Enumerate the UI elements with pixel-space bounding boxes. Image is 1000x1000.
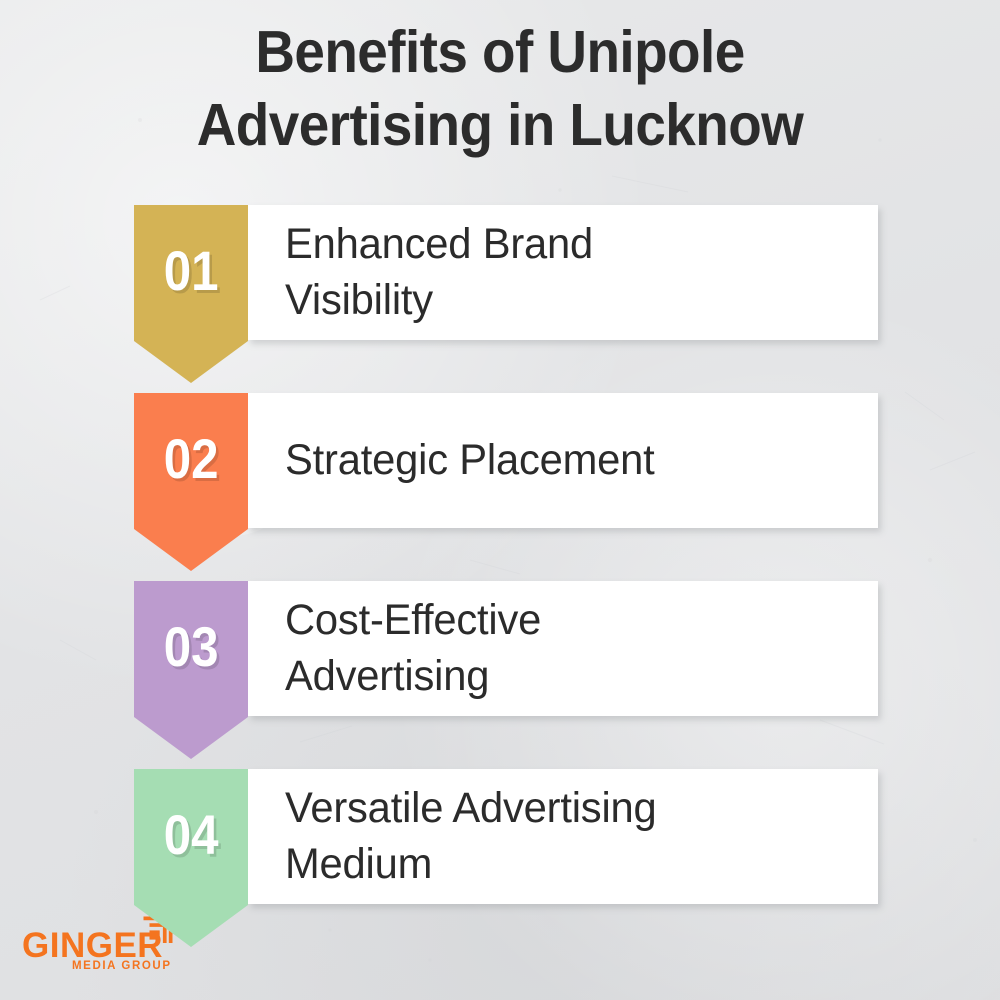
benefit-number: 03: [164, 619, 219, 675]
page-title-line-2: Advertising in Lucknow: [35, 89, 965, 162]
benefit-label: Versatile Advertising Medium: [285, 781, 657, 893]
benefit-label: Cost-Effective Advertising: [285, 593, 541, 705]
benefit-number-ribbon[interactable]: 03: [134, 581, 248, 759]
infographic-poster: Benefits of Unipole Advertising in Luckn…: [0, 0, 1000, 1000]
benefit-number: 01: [164, 243, 219, 299]
list-item[interactable]: Cost-Effective Advertising 03: [0, 581, 1000, 769]
benefit-label-line-2: Advertising: [285, 649, 541, 705]
brand-logo-subtitle: MEDIA GROUP: [72, 961, 172, 973]
benefits-list: Enhanced Brand Visibility 01 Strategic P…: [0, 205, 1000, 949]
page-title-line-1: Benefits of Unipole: [35, 16, 965, 89]
benefit-label-line-1: Cost-Effective: [285, 593, 541, 649]
benefit-number: 02: [164, 431, 219, 487]
benefit-label-line-2: Visibility: [285, 273, 593, 329]
benefit-card[interactable]: Versatile Advertising Medium: [248, 769, 878, 904]
benefit-card[interactable]: Enhanced Brand Visibility: [248, 205, 878, 340]
benefit-card[interactable]: Cost-Effective Advertising: [248, 581, 878, 716]
benefit-label-line-1: Versatile Advertising: [285, 781, 657, 837]
benefit-number-ribbon[interactable]: 02: [134, 393, 248, 571]
benefit-number: 04: [164, 807, 219, 863]
benefit-label-line-2: Medium: [285, 837, 657, 893]
list-item[interactable]: Enhanced Brand Visibility 01: [0, 205, 1000, 393]
benefit-label-line-1: Enhanced Brand: [285, 217, 593, 273]
benefit-label: Enhanced Brand Visibility: [285, 217, 593, 329]
benefit-label-line-1: Strategic Placement: [285, 433, 655, 489]
page-title: Benefits of Unipole Advertising in Luckn…: [0, 16, 1000, 162]
benefit-card[interactable]: Strategic Placement: [248, 393, 878, 528]
list-item[interactable]: Strategic Placement 02: [0, 393, 1000, 581]
benefit-label: Strategic Placement: [285, 433, 655, 489]
benefit-number-ribbon[interactable]: 01: [134, 205, 248, 383]
